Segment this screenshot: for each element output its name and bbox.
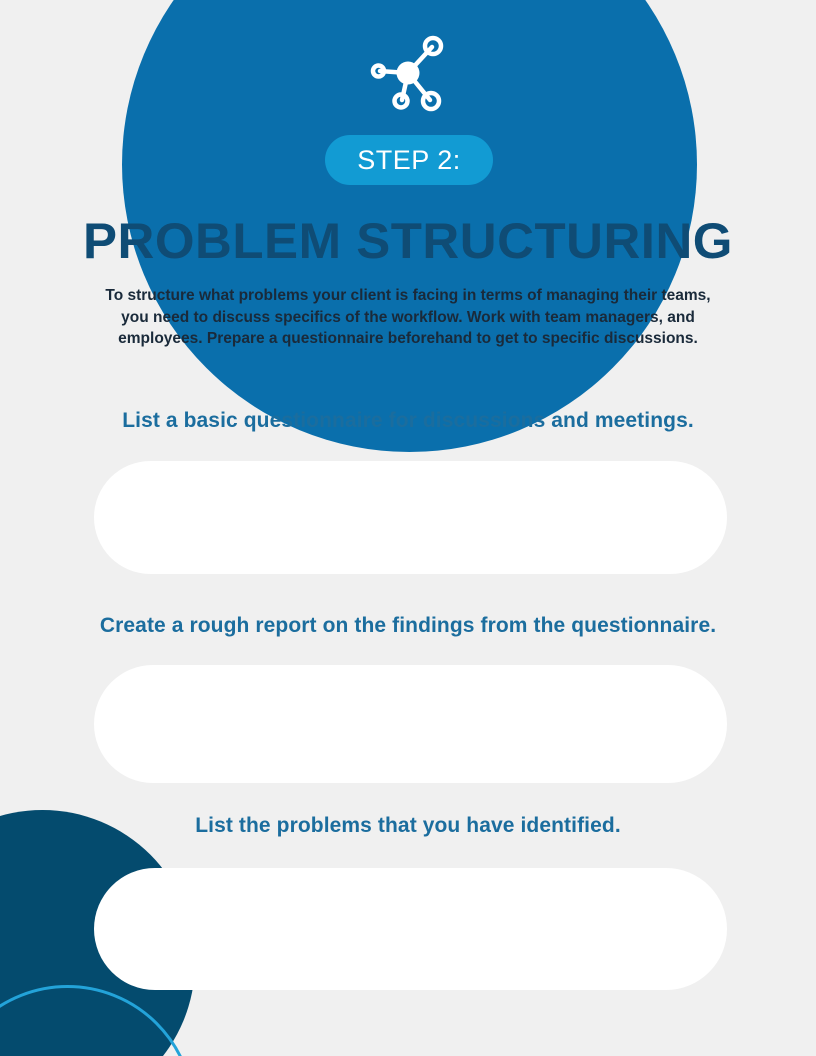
prompt-heading-2: Create a rough report on the findings fr… (0, 614, 816, 638)
network-nodes-icon (366, 30, 450, 118)
worksheet-page: STEP 2: PROBLEM STRUCTURING To structure… (0, 0, 816, 1056)
answer-box-1[interactable] (94, 461, 727, 574)
prompt-heading-3: List the problems that you have identifi… (0, 814, 816, 838)
prompt-heading-1: List a basic questionnaire for discussio… (0, 409, 816, 433)
answer-box-2[interactable] (94, 665, 727, 783)
answer-box-3[interactable] (94, 868, 727, 990)
intro-paragraph: To structure what problems your client i… (94, 285, 722, 350)
page-title: PROBLEM STRUCTURING (0, 216, 816, 266)
step-badge-label: STEP 2: (357, 145, 461, 176)
step-badge: STEP 2: (325, 135, 493, 185)
